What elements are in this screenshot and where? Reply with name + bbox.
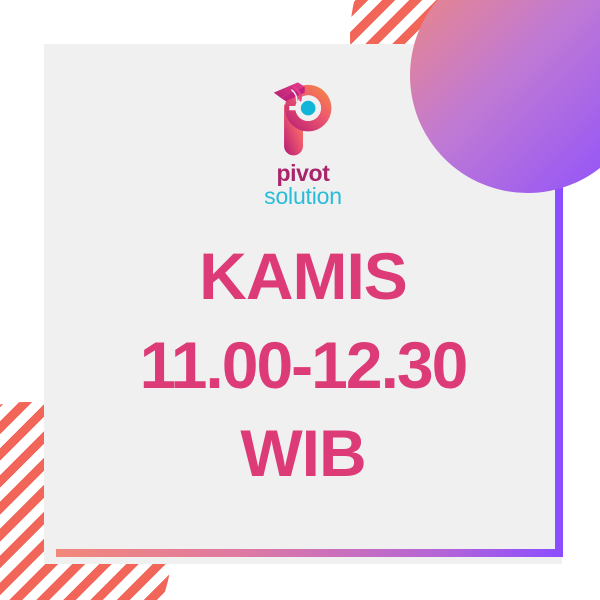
headline-timezone: WIB [44, 419, 562, 488]
headline-time: 11.00-12.30 [44, 331, 562, 400]
brand-wordmark: pivot solution [264, 162, 342, 208]
card-content: pivot solution KAMIS 11.00-12.30 WIB [44, 44, 562, 564]
wordmark-solution: solution [264, 185, 342, 208]
headline-day: KAMIS [44, 242, 562, 311]
poster-canvas: pivot solution KAMIS 11.00-12.30 WIB [0, 0, 600, 600]
brand-block: pivot solution [260, 72, 346, 208]
pivot-logo-icon [260, 72, 346, 158]
headline-block: KAMIS 11.00-12.30 WIB [44, 242, 562, 488]
wordmark-pivot: pivot [264, 162, 342, 185]
